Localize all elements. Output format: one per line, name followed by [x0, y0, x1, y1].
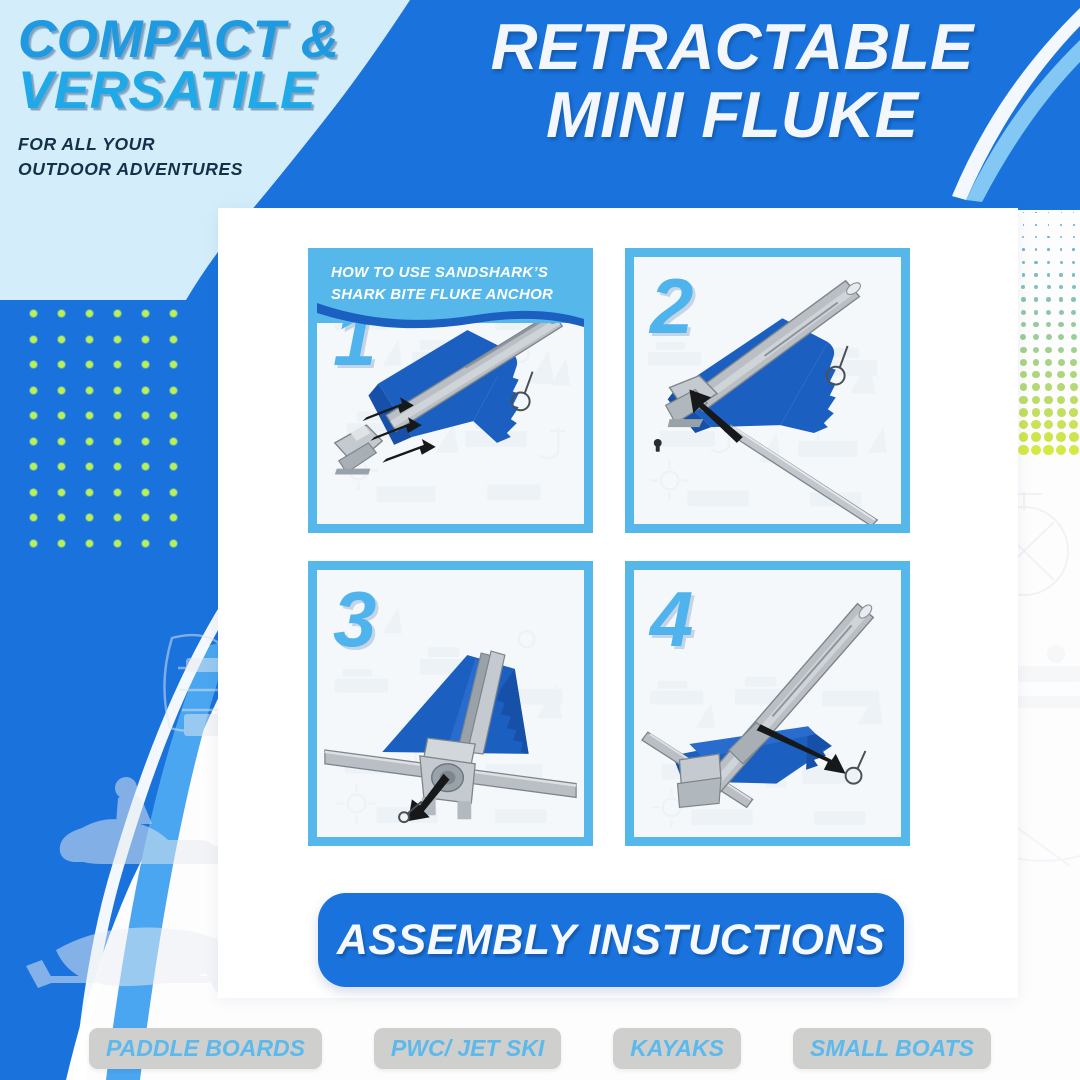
halftone-dot — [1057, 371, 1064, 378]
halftone-dot — [1060, 261, 1063, 264]
halftone-dot — [1045, 359, 1052, 366]
category-tag[interactable]: PWC/ JET SKI — [374, 1028, 561, 1069]
halftone-dot — [1044, 396, 1052, 404]
panel-1-ribbon-wave — [317, 301, 584, 335]
grid-dot — [170, 310, 177, 317]
halftone-dot — [1071, 322, 1076, 327]
halftone-dot — [1032, 396, 1040, 404]
halftone-dot — [1020, 371, 1027, 378]
halftone-dot — [1034, 273, 1038, 277]
halftone-dot — [1059, 310, 1064, 315]
grid-dot — [30, 438, 37, 445]
grid-dot — [170, 387, 177, 394]
halftone-dot — [1047, 261, 1050, 264]
halftone-dot — [1060, 236, 1062, 238]
grid-dot — [58, 387, 65, 394]
grid-dot — [114, 514, 121, 521]
grid-dot — [114, 310, 121, 317]
grid-dot — [142, 438, 149, 445]
halftone-dot — [1045, 371, 1052, 378]
halftone-dot — [1069, 432, 1079, 442]
halftone-dot — [1032, 371, 1039, 378]
grid-dot — [142, 387, 149, 394]
grid-dot — [142, 463, 149, 470]
step-4-number: 4 — [650, 580, 693, 658]
halftone-dot — [1057, 383, 1065, 391]
halftone-dot — [1047, 285, 1051, 289]
halftone-dot — [1018, 445, 1028, 455]
halftone-dot — [1058, 334, 1064, 340]
grid-dot — [86, 540, 93, 547]
halftone-dot — [1046, 334, 1052, 340]
halftone-dot — [1048, 212, 1049, 213]
grid-dot — [58, 361, 65, 368]
poster-canvas: COMPACT & VERSATILE FOR ALL YOUR OUTDOOR… — [0, 0, 1080, 1080]
halftone-dot — [1034, 261, 1037, 264]
category-tag-row: PADDLE BOARDSPWC/ JET SKIKAYAKSSMALL BOA… — [0, 1026, 1080, 1070]
grid-dot — [114, 412, 121, 419]
halftone-dot — [1072, 248, 1075, 251]
grid-dot — [114, 463, 121, 470]
grid-dot — [170, 336, 177, 343]
step-panel-2-inner: 2 — [634, 257, 901, 524]
halftone-dot — [1033, 334, 1039, 340]
grid-dot — [142, 412, 149, 419]
panel-1-header-text: HOW TO USE SANDSHARK’S SHARK BITE FLUKE … — [331, 262, 578, 306]
halftone-dot — [1069, 420, 1078, 429]
halftone-dot — [1020, 347, 1026, 353]
halftone-dot — [1019, 432, 1029, 442]
grid-dot — [114, 489, 121, 496]
halftone-dot — [1044, 420, 1053, 429]
halftone-dot — [1072, 261, 1075, 264]
grid-dot — [86, 489, 93, 496]
halftone-dot — [1020, 359, 1027, 366]
category-tag-label: KAYAKS — [630, 1035, 724, 1061]
lime-dot-grid — [30, 310, 198, 565]
panel-header-line-2: SHARK BITE FLUKE ANCHOR — [331, 284, 578, 306]
step-panel-4[interactable]: 4 — [625, 561, 910, 846]
grid-dot — [170, 514, 177, 521]
page-title: RETRACTABLE MINI FLUKE — [432, 14, 1032, 149]
grid-dot — [142, 540, 149, 547]
step-panel-3[interactable]: 3 — [308, 561, 593, 846]
halftone-dot — [1057, 420, 1066, 429]
halftone-dot — [1073, 224, 1075, 226]
halftone-dot — [1070, 371, 1077, 378]
halftone-dot — [1060, 224, 1062, 226]
category-tag-label: PADDLE BOARDS — [106, 1035, 305, 1061]
grid-dot — [30, 310, 37, 317]
grid-dot — [58, 540, 65, 547]
category-tag[interactable]: KAYAKS — [613, 1028, 741, 1069]
grid-dot — [114, 336, 121, 343]
halftone-dot — [1072, 273, 1076, 277]
halftone-dot — [1058, 347, 1064, 353]
step-2-number: 2 — [650, 267, 693, 345]
halftone-dot — [1070, 383, 1078, 391]
halftone-dot — [1045, 347, 1051, 353]
halftone-dot — [1034, 285, 1038, 289]
halftone-dot — [1022, 248, 1025, 251]
halftone-dot — [1044, 408, 1053, 417]
grid-dot — [114, 438, 121, 445]
halftone-dot — [1046, 310, 1051, 315]
halftone-dot — [1048, 224, 1050, 226]
halftone-dot — [1043, 445, 1053, 455]
steps-grid: 1 — [308, 248, 920, 848]
halftone-dot — [1073, 236, 1075, 238]
grid-dot — [30, 463, 37, 470]
halftone-dot — [1059, 273, 1063, 277]
grid-dot — [86, 310, 93, 317]
halftone-dot — [1019, 408, 1028, 417]
halftone-dot — [1023, 212, 1024, 213]
halftone-dot — [1071, 347, 1077, 353]
halftone-dot — [1044, 432, 1054, 442]
halftone-dot — [1070, 396, 1078, 404]
grid-dot — [170, 438, 177, 445]
halftone-dot — [1071, 297, 1076, 302]
halftone-dot — [1061, 212, 1062, 213]
halftone-dot — [1046, 322, 1051, 327]
grid-dot — [142, 514, 149, 521]
category-tag[interactable]: SMALL BOATS — [793, 1028, 991, 1069]
halftone-dot — [1021, 285, 1025, 289]
halftone-dot — [1033, 359, 1040, 366]
step-panel-2[interactable]: 2 — [625, 248, 910, 533]
grid-dot — [142, 361, 149, 368]
category-tag-label: SMALL BOATS — [810, 1035, 974, 1061]
halftone-dot — [1021, 322, 1026, 327]
category-tag-label: PWC/ JET SKI — [391, 1035, 544, 1061]
grid-dot — [86, 387, 93, 394]
halftone-dot — [1058, 322, 1063, 327]
grid-dot — [86, 336, 93, 343]
halftone-dot — [1035, 248, 1038, 251]
badge-subtitle: FOR ALL YOUR OUTDOOR ADVENTURES — [18, 132, 418, 183]
halftone-dot — [1057, 396, 1065, 404]
halftone-dot — [1035, 212, 1036, 213]
halftone-dot — [1021, 297, 1026, 302]
grid-dot — [170, 412, 177, 419]
grid-dot — [86, 438, 93, 445]
halftone-dot — [1031, 445, 1041, 455]
badge-subtitle-line-1: FOR ALL YOUR — [18, 132, 418, 157]
grid-dot — [170, 463, 177, 470]
halftone-dot — [1022, 261, 1025, 264]
grid-dot — [58, 514, 65, 521]
grid-dot — [114, 387, 121, 394]
badge-line-2: VERSATILE — [18, 67, 418, 116]
panel-header-line-1: HOW TO USE SANDSHARK’S — [331, 262, 578, 284]
grid-dot — [30, 387, 37, 394]
halftone-dot — [1071, 310, 1076, 315]
halftone-dot — [1045, 383, 1053, 391]
halftone-dot — [1023, 224, 1025, 226]
step-panel-1-inner: 1 — [317, 257, 584, 524]
grid-dot — [170, 540, 177, 547]
halftone-dot — [1032, 383, 1040, 391]
halftone-dot — [1031, 420, 1040, 429]
grid-dot — [170, 361, 177, 368]
grid-dot — [58, 310, 65, 317]
halftone-dot — [1033, 322, 1038, 327]
halftone-dot — [1020, 383, 1028, 391]
halftone-dot — [1033, 347, 1039, 353]
top-left-heading: COMPACT & VERSATILE FOR ALL YOUR OUTDOOR… — [18, 16, 418, 182]
halftone-dot — [1046, 297, 1051, 302]
grid-dot — [86, 463, 93, 470]
halftone-dot — [1071, 334, 1077, 340]
step-3-number: 3 — [333, 580, 376, 658]
halftone-dot — [1047, 248, 1050, 251]
halftone-dot — [1059, 297, 1064, 302]
grid-dot — [30, 336, 37, 343]
halftone-dot — [1047, 273, 1051, 277]
grid-dot — [86, 514, 93, 521]
grid-dot — [142, 310, 149, 317]
grid-dot — [58, 336, 65, 343]
grid-dot — [58, 463, 65, 470]
halftone-dot — [1058, 359, 1065, 366]
halftone-dot — [1022, 273, 1026, 277]
halftone-dot — [1035, 224, 1037, 226]
grid-dot — [30, 540, 37, 547]
halftone-dot — [1056, 445, 1066, 455]
halftone-dot — [1057, 408, 1066, 417]
badge-line-1: COMPACT & — [18, 16, 418, 65]
grid-dot — [58, 438, 65, 445]
halftone-dot — [1034, 310, 1039, 315]
halftone-dot — [1047, 236, 1049, 238]
halftone-dot — [1034, 297, 1039, 302]
halftone-dot — [1072, 285, 1076, 289]
assembly-instructions-label: ASSEMBLY INSTUCTIONS — [337, 916, 885, 965]
halftone-dot — [1059, 285, 1063, 289]
halftone-dot — [1056, 432, 1066, 442]
halftone-dot — [1073, 212, 1074, 213]
halftone-dot — [1019, 420, 1028, 429]
grid-dot — [86, 361, 93, 368]
halftone-dot — [1070, 359, 1077, 366]
step-panel-1[interactable]: 1 — [308, 248, 593, 533]
halftone-dot — [1019, 396, 1027, 404]
grid-dot — [142, 336, 149, 343]
grid-dot — [170, 489, 177, 496]
assembly-instructions-button[interactable]: ASSEMBLY INSTUCTIONS — [318, 893, 904, 987]
grid-dot — [58, 489, 65, 496]
step-panel-3-inner: 3 — [317, 570, 584, 837]
halftone-dot — [1069, 408, 1078, 417]
halftone-dot — [1020, 334, 1026, 340]
halftone-dot — [1035, 236, 1037, 238]
grid-dot — [114, 540, 121, 547]
halftone-dot — [1060, 248, 1063, 251]
halftone-dot — [1031, 432, 1041, 442]
halftone-dot — [1022, 236, 1024, 238]
grid-dot — [86, 412, 93, 419]
halftone-dot — [1021, 310, 1026, 315]
title-line-1: RETRACTABLE — [432, 14, 1032, 80]
step-panel-4-inner: 4 — [634, 570, 901, 837]
halftone-dot — [1069, 445, 1079, 455]
category-tag[interactable]: PADDLE BOARDS — [89, 1028, 322, 1069]
grid-dot — [30, 412, 37, 419]
grid-dot — [114, 361, 121, 368]
halftone-dot — [1032, 408, 1041, 417]
badge-subtitle-line-2: OUTDOOR ADVENTURES — [18, 157, 418, 182]
grid-dot — [30, 514, 37, 521]
grid-dot — [58, 412, 65, 419]
title-line-2: MINI FLUKE — [432, 82, 1032, 148]
grid-dot — [30, 361, 37, 368]
grid-dot — [30, 489, 37, 496]
grid-dot — [142, 489, 149, 496]
